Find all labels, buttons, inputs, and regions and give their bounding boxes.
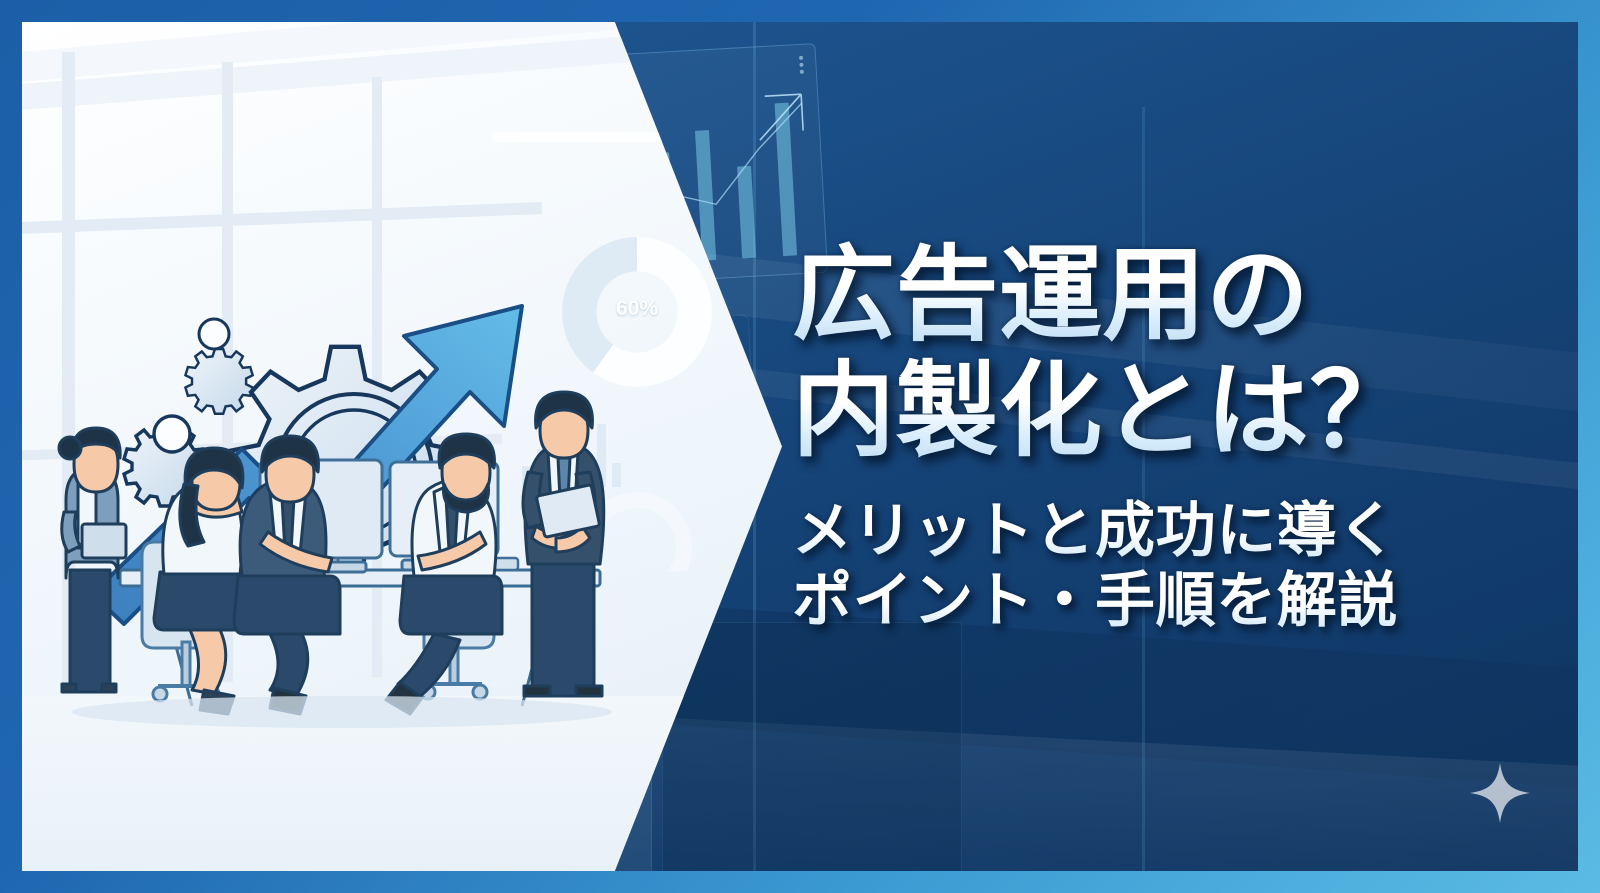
- more-options-icon[interactable]: [799, 56, 804, 77]
- subtitle-line-2: ポイント・手順を解説: [792, 566, 1512, 636]
- gear-tiny: [185, 319, 252, 414]
- ground-shadow: [72, 696, 612, 728]
- title-line-2: 内製化とは？: [792, 353, 1512, 469]
- title-line-1: 広告運用の: [792, 237, 1512, 353]
- hero-banner: 50100150200250300350 JanFebMarAprMayJunJ…: [0, 0, 1600, 893]
- sparkle-icon: [1470, 763, 1530, 823]
- banner-stage: 50100150200250300350 JanFebMarAprMayJunJ…: [22, 22, 1578, 871]
- person-standing-man: [523, 392, 604, 696]
- business-team-growth-illustration: [42, 172, 702, 732]
- subtitle-block: メリットと成功に導く ポイント・手順を解説: [792, 496, 1512, 636]
- subtitle-line-1: メリットと成功に導く: [792, 496, 1512, 566]
- person-standing-woman: [59, 428, 126, 692]
- headline-block: 広告運用の 内製化とは？ メリットと成功に導く ポイント・手順を解説: [792, 237, 1512, 636]
- partition-silhouette: [662, 622, 962, 871]
